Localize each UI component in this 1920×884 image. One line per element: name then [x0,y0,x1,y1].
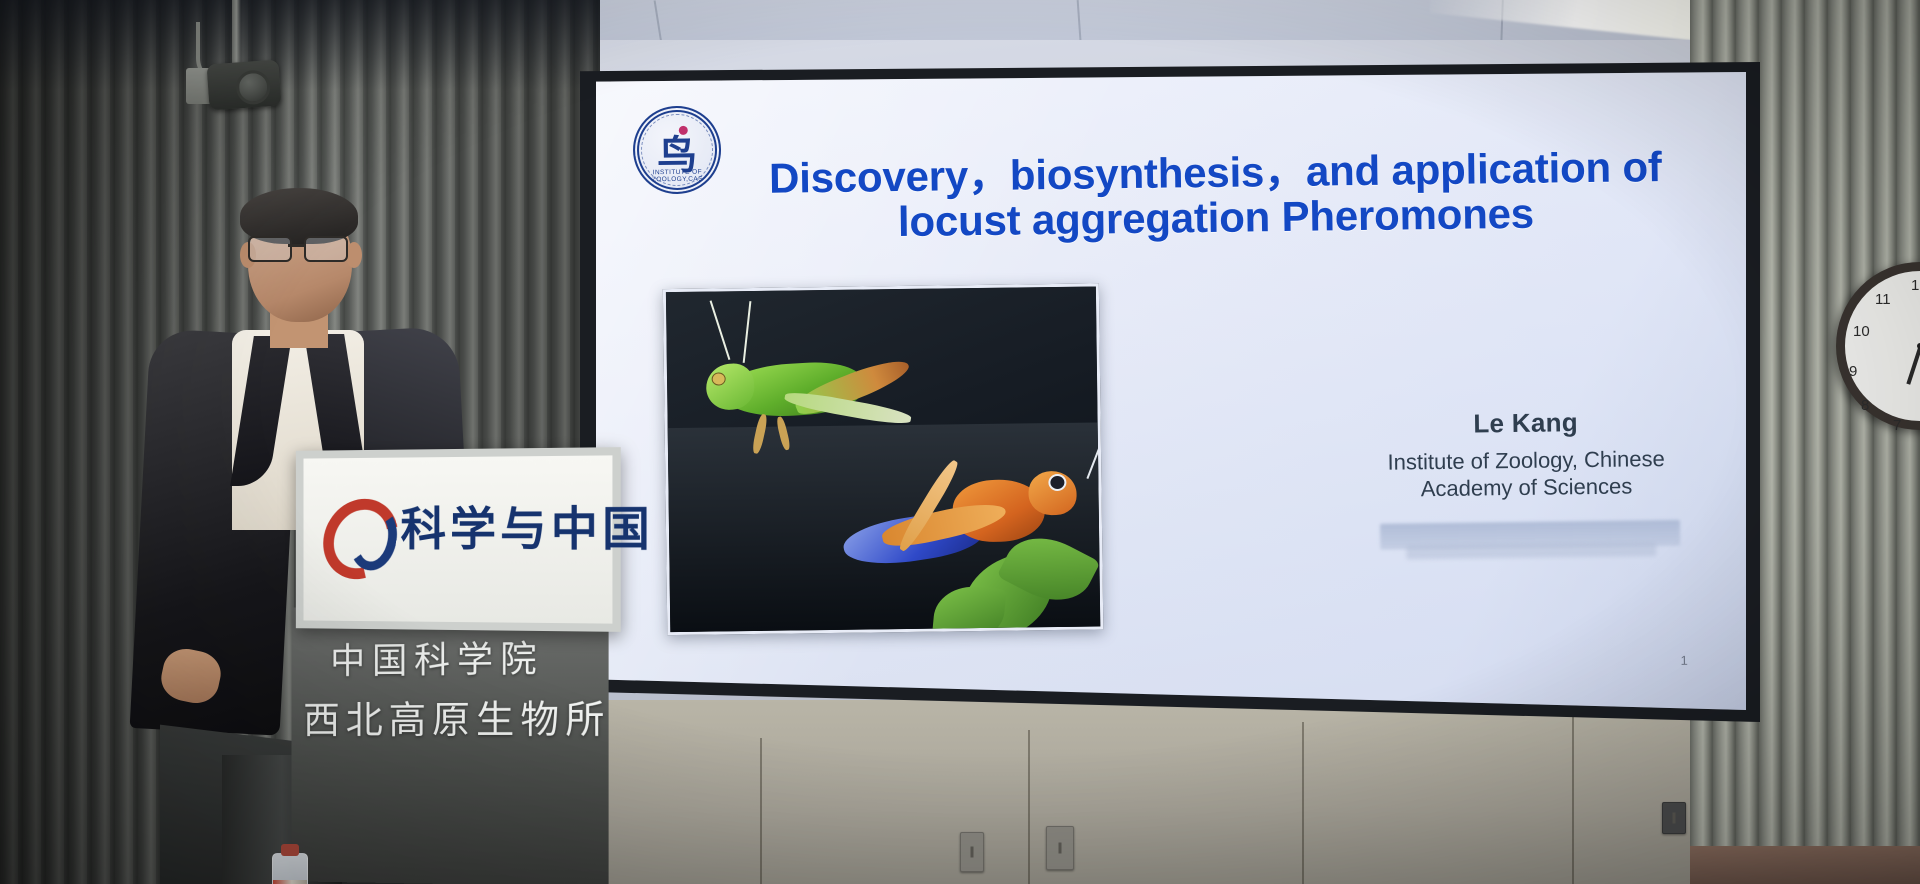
lecture-hall-photo: 12 11 10 9 8 7 鸟 INSTITUTE OF ZOOLOGY,CA… [0,0,1920,884]
bottle-cap [281,844,299,856]
lectern-front-panel: 中国科学院 西北高原生物所 [292,602,609,884]
eyeglasses-left-lens-icon [248,236,292,262]
lectern-org-line2: 西北高原生物所 [303,688,610,744]
eyeglasses-bridge [288,244,304,247]
outlet-plate-right-a [1662,802,1686,834]
projection-screen-surface [596,72,1746,710]
kexue-yu-zhongguo-logo-icon [325,493,395,564]
ear-right [346,242,362,268]
eyeglasses-right-lens-icon [304,236,348,262]
wall-top-shadow [0,0,600,90]
lectern-org-line1: 中国科学院 [330,630,544,684]
clock-numeral: 8 [1861,397,1869,414]
bottle-label [273,880,307,884]
clock-numeral: 12 [1911,277,1920,294]
outlet-plate-left [960,832,984,872]
lectern: 中国科学院 西北高原生物所 科学与中国 [160,455,580,884]
outlet-plate-center [1046,826,1074,870]
camera-body [206,60,281,111]
lectern-program-sign: 科学与中国 [296,447,621,632]
lectern-program-title: 科学与中国 [401,492,655,560]
clock-hour-hand [1906,347,1920,384]
clock-numeral: 10 [1853,323,1870,340]
clock-numeral: 7 [1893,417,1901,434]
clock-numeral: 11 [1875,291,1891,308]
lower-wall-paneling [560,700,1740,884]
clock-numeral: 9 [1849,363,1857,380]
water-bottle [272,853,308,884]
camera-lens-icon [235,69,271,105]
screen-glare [596,72,1746,710]
floor-strip [1690,846,1920,884]
